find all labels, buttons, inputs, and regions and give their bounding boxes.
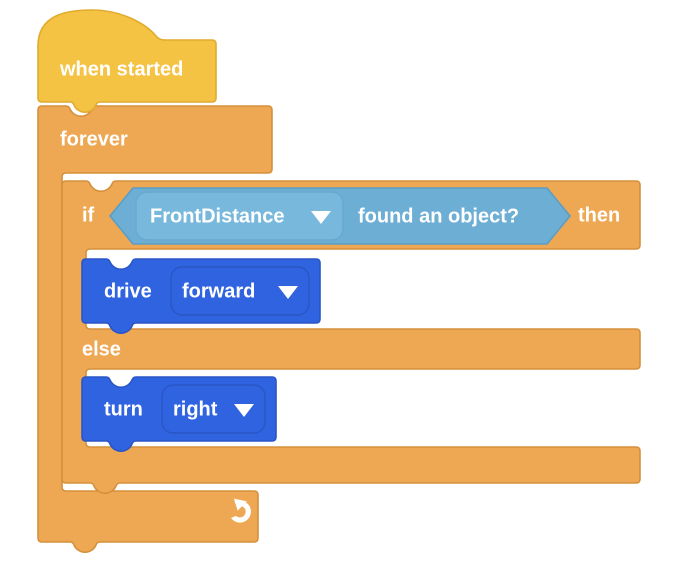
- when-started-label: when started: [59, 58, 183, 80]
- else-label: else: [82, 338, 121, 360]
- if-label: if: [82, 204, 95, 226]
- drive-direction-value: forward: [182, 280, 255, 302]
- block-when-started[interactable]: when started: [38, 10, 216, 112]
- front-distance-dropdown-value: FrontDistance: [150, 205, 284, 227]
- block-front-distance-found-object[interactable]: FrontDistance found an object?: [110, 188, 570, 244]
- forever-label: forever: [60, 128, 128, 150]
- then-label: then: [578, 204, 620, 226]
- turn-direction-value: right: [173, 398, 218, 420]
- turn-label: turn: [104, 398, 143, 420]
- block-workspace-canvas[interactable]: forever when started if then else Fro: [0, 0, 688, 580]
- drive-direction-dropdown[interactable]: forward: [171, 267, 309, 315]
- found-an-object-label: found an object?: [358, 205, 519, 227]
- block-drive-forward[interactable]: drive forward: [82, 259, 320, 333]
- turn-direction-dropdown[interactable]: right: [162, 385, 265, 433]
- block-turn-right[interactable]: turn right: [82, 377, 276, 451]
- block-stack: forever when started if then else Fro: [0, 0, 688, 580]
- drive-label: drive: [104, 280, 152, 302]
- front-distance-dropdown[interactable]: FrontDistance: [136, 192, 343, 240]
